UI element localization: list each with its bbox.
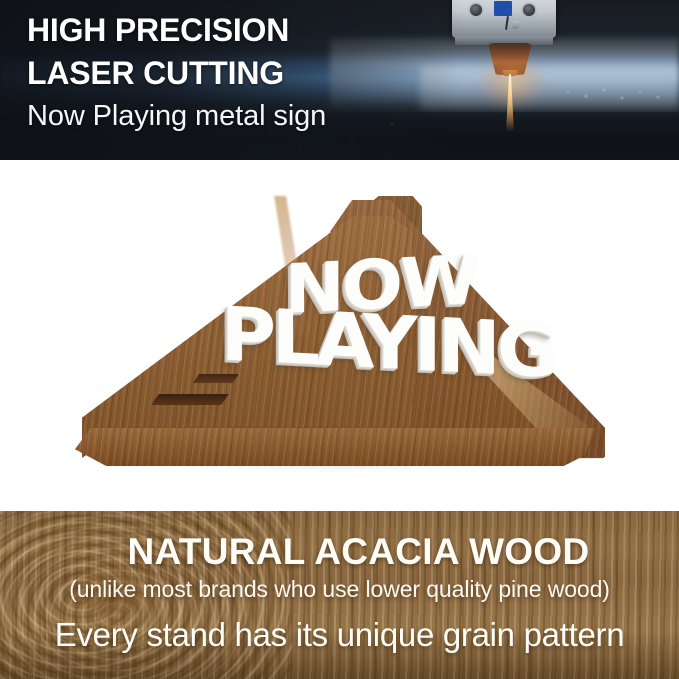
wood-banner-tagline: Every stand has its unique grain pattern (0, 616, 679, 654)
section-divider (0, 495, 679, 511)
now-playing-sign: NOW PLAYING (0, 160, 679, 511)
top-banner-text-block: HIGH PRECISION LASER CUTTING Now Playing… (27, 14, 497, 131)
wood-banner-text-block: NATURAL ACACIA WOOD (unlike most brands … (0, 511, 679, 679)
molten-sparks (560, 84, 679, 106)
product-marketing-image: HIGH PRECISION LASER CUTTING Now Playing… (0, 0, 679, 679)
laser-knob (512, 21, 519, 29)
laser-lens-right-icon (523, 4, 535, 16)
sign-word-playing: PLAYING (221, 297, 555, 389)
top-banner-subhead: Now Playing metal sign (27, 102, 497, 131)
product-stage: NOW PLAYING (0, 160, 679, 511)
wood-banner: NATURAL ACACIA WOOD (unlike most brands … (0, 511, 679, 679)
wood-banner-headline: NATURAL ACACIA WOOD (0, 531, 679, 573)
top-banner: HIGH PRECISION LASER CUTTING Now Playing… (0, 0, 679, 160)
wood-banner-subline: (unlike most brands who use lower qualit… (0, 576, 679, 603)
product-photo-section: NOW PLAYING (0, 160, 679, 511)
headline-line-2: LASER CUTTING (27, 57, 497, 89)
headline-line-1: HIGH PRECISION (27, 14, 497, 46)
